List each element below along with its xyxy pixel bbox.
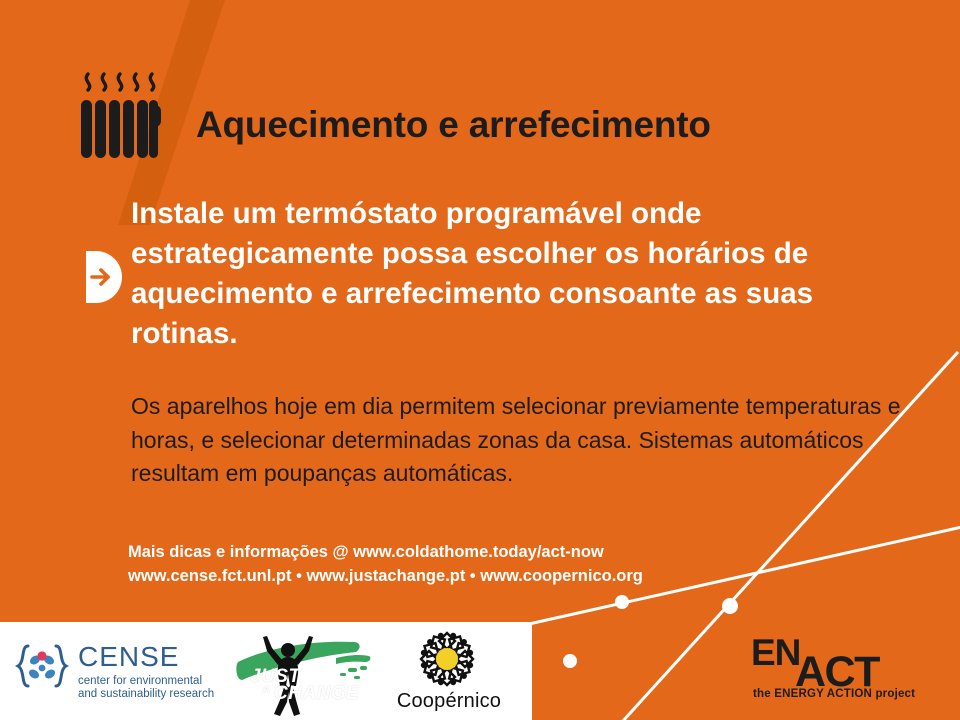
arrow-right-icon bbox=[86, 251, 122, 303]
cense-wordmark: CENSE bbox=[78, 641, 179, 673]
coopernico-rosette-icon bbox=[406, 628, 488, 690]
cense-mark-icon bbox=[14, 643, 70, 689]
footnote-line-1: Mais dicas e informações @ www.coldathom… bbox=[128, 540, 888, 564]
decor-dot-3 bbox=[563, 654, 577, 668]
logo-justachange: JUST A CHANGE bbox=[236, 628, 376, 718]
footnote-block: Mais dicas e informações @ www.coldathom… bbox=[128, 540, 888, 588]
logo-enact: EN ACT the ENERGY ACTION project bbox=[747, 632, 912, 704]
body-paragraph: Os aparelhos hoje em dia permitem seleci… bbox=[131, 390, 911, 491]
enact-tagline: the ENERGY ACTION project bbox=[753, 688, 915, 700]
justachange-word-a: A bbox=[262, 684, 270, 696]
coopernico-wordmark: Coopérnico bbox=[390, 690, 508, 713]
decor-dot-2 bbox=[722, 598, 738, 614]
justachange-word-change: CHANGE bbox=[274, 683, 359, 705]
footnote-line-2: www.cense.fct.unl.pt • www.justachange.p… bbox=[128, 564, 888, 588]
logo-coopernico: Coopérnico bbox=[386, 628, 508, 720]
radiator-icon bbox=[78, 60, 168, 165]
logo-cense: CENSE center for environmental and susta… bbox=[14, 641, 226, 703]
page-title: Aquecimento e arrefecimento bbox=[196, 104, 711, 146]
cense-tagline-1: center for environmental bbox=[78, 675, 202, 687]
cense-tagline-2: and sustainability research bbox=[78, 688, 214, 700]
lead-paragraph: Instale um termóstato programável onde e… bbox=[131, 194, 921, 354]
enact-part-en: EN bbox=[751, 632, 800, 674]
slide-canvas: Aquecimento e arrefecimento Instale um t… bbox=[0, 0, 960, 720]
decor-dot-1 bbox=[615, 595, 629, 609]
